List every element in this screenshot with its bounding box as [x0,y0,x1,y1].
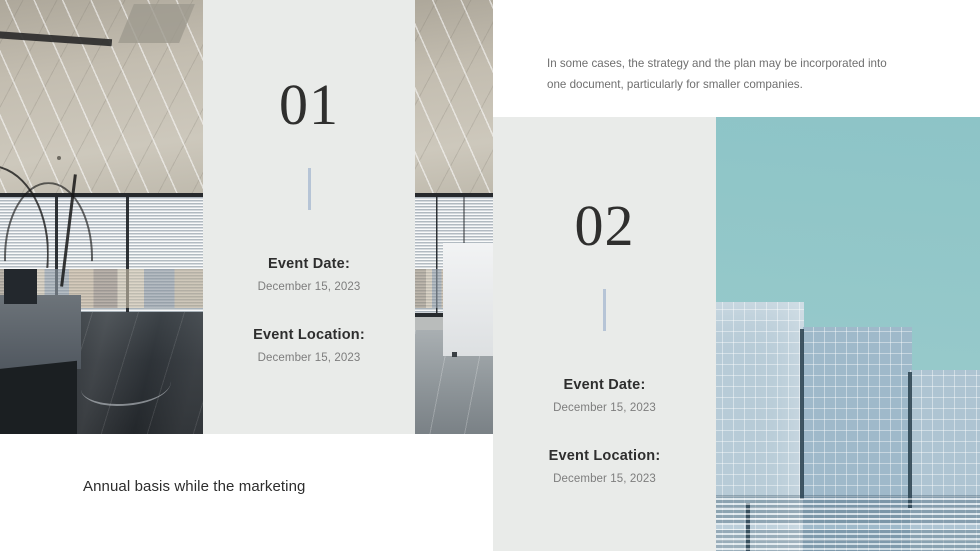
card-divider-rule-01 [308,168,311,210]
slide-canvas: In some cases, the strategy and the plan… [0,0,980,551]
ceiling-tiles-strip [415,0,493,200]
card-divider-rule-02 [603,289,606,331]
event-date-group-01: Event Date: December 15, 2023 [203,256,415,293]
event-location-value-01: December 15, 2023 [203,352,415,364]
foreground-shadow [0,360,77,434]
event-date-label-02: Event Date: [493,377,716,393]
event-location-label-02: Event Location: [493,448,716,464]
event-date-value-02: December 15, 2023 [493,402,716,414]
white-cabinet [443,243,493,356]
office-interior-strip-image [415,0,493,434]
event-location-value-02: December 15, 2023 [493,473,716,485]
facade-louvre-band-2 [716,529,980,551]
card-number-01: 01 [203,76,415,134]
event-card-01: 01 Event Date: December 15, 2023 Event L… [203,0,415,434]
facade-louvre-band-1 [716,495,980,525]
event-location-group-01: Event Location: December 15, 2023 [203,327,415,364]
card-number-02: 02 [493,197,716,255]
event-card-02: 02 Event Date: December 15, 2023 Event L… [493,117,716,551]
facade-mullion-2 [908,372,912,508]
intro-paragraph: In some cases, the strategy and the plan… [547,53,909,96]
cabinet-foot [452,352,457,357]
event-date-label-01: Event Date: [203,256,415,272]
event-date-group-02: Event Date: December 15, 2023 [493,377,716,414]
glass-tower-image [716,117,980,551]
footer-heading: Annual basis while the marketing [83,478,306,495]
reception-desk [0,295,81,369]
event-date-value-01: December 15, 2023 [203,281,415,293]
card-fields-02: Event Date: December 15, 2023 Event Loca… [493,377,716,485]
event-location-label-01: Event Location: [203,327,415,343]
card-fields-01: Event Date: December 15, 2023 Event Loca… [203,256,415,364]
office-interior-left-image [0,0,203,434]
facade-mullion-1 [800,329,804,499]
window-frame-top-strip [415,193,493,197]
event-location-group-02: Event Location: December 15, 2023 [493,448,716,485]
desk-monitor [4,269,36,304]
